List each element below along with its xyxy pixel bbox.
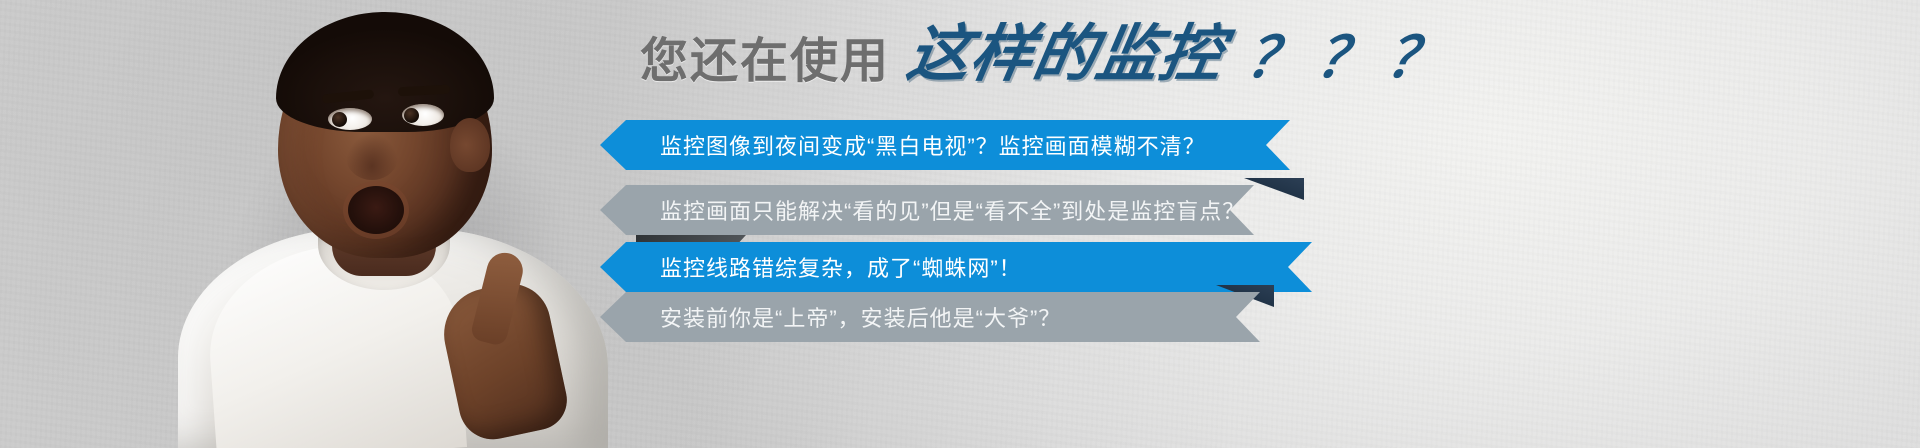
pain-point-text-3: 监控线路错综复杂，成了“蜘蛛网”！ xyxy=(660,251,1022,283)
pain-point-bar-4: 安装前你是“上帝”，安装后他是“大爷”？ xyxy=(600,292,1260,342)
person-mouth xyxy=(348,186,404,234)
promo-banner: 您还在使用 这样的监控 ？ ？ ？ 监控图像到夜间变成“黑白电视”？监控画面模糊… xyxy=(0,0,1920,448)
person-photo xyxy=(150,0,670,448)
person-nose xyxy=(346,134,398,180)
pain-point-text-4: 安装前你是“上帝”，安装后他是“大爷”？ xyxy=(660,301,1061,333)
headline-question-marks: ？ ？ ？ xyxy=(1247,30,1443,86)
pain-point-text-1: 监控图像到夜间变成“黑白电视”？监控画面模糊不清？ xyxy=(660,129,1206,161)
pain-point-text-2: 监控画面只能解决“看的见”但是“看不全”到处是监控盲点？ xyxy=(660,194,1245,226)
pain-point-bar-3: 监控线路错综复杂，成了“蜘蛛网”！ xyxy=(600,242,1312,292)
headline-prefix: 您还在使用 xyxy=(640,38,890,86)
person-pupil-left xyxy=(332,112,347,127)
headline-emphasis: 这样的监控 xyxy=(903,24,1229,86)
headline: 您还在使用 这样的监控 ？ ？ ？ xyxy=(640,24,1443,86)
person-pupil-right xyxy=(404,108,419,123)
person-ear xyxy=(450,118,490,172)
question-mark-2: ？ xyxy=(1312,30,1378,86)
pain-point-bar-2: 监控画面只能解决“看的见”但是“看不全”到处是监控盲点？ xyxy=(600,185,1254,235)
question-mark-1: ？ xyxy=(1242,30,1308,86)
bar-fold-decoration-1 xyxy=(1244,178,1304,200)
question-mark-3: ？ xyxy=(1382,30,1448,86)
pain-point-bar-1: 监控图像到夜间变成“黑白电视”？监控画面模糊不清？ xyxy=(600,120,1290,170)
